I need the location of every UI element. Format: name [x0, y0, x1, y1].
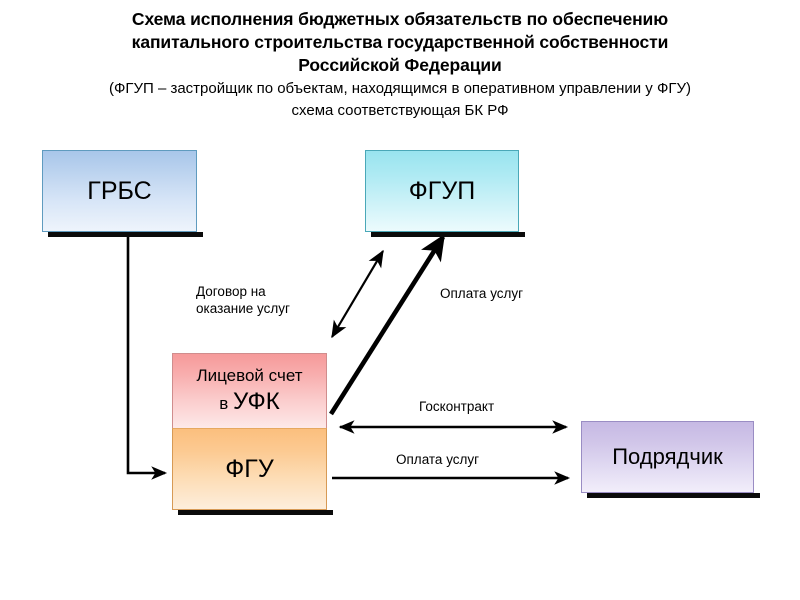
contractor-box-shadow: [587, 493, 760, 498]
edge-label-service-contract: Договор на оказание услуг: [196, 283, 290, 317]
grbs-box-shadow: [48, 232, 203, 237]
node-fgup[interactable]: ФГУП: [365, 150, 519, 232]
node-fgu-label: ФГУ: [225, 455, 273, 484]
node-grbs[interactable]: ГРБС: [42, 150, 197, 232]
diagram-canvas: Схема исполнения бюджетных обязательств …: [0, 0, 800, 600]
ls-prefix: в: [219, 394, 233, 413]
fgup-box-shadow: [371, 232, 525, 237]
connector-layer: [0, 0, 800, 600]
node-grbs-label: ГРБС: [87, 177, 151, 206]
edge-label-payment-top: Оплата услуг: [440, 285, 523, 302]
node-fgup-label: ФГУП: [409, 177, 475, 206]
edge-label-payment-bottom: Оплата услуг: [396, 451, 479, 468]
node-contractor[interactable]: Подрядчик: [581, 421, 754, 493]
node-personal-account-label-line2: в УФК: [219, 388, 279, 416]
node-fgu[interactable]: ФГУ: [172, 428, 327, 510]
node-personal-account[interactable]: Лицевой счет в УФК: [172, 353, 327, 428]
connector-grbs-to-fgu: [128, 233, 165, 473]
node-contractor-label: Подрядчик: [612, 444, 723, 470]
edge-label-goskontrakt: Госконтракт: [419, 398, 494, 415]
fgu-box-shadow: [178, 510, 333, 515]
ls-ufk: УФК: [233, 388, 280, 415]
connector-ls-fgup-contract: [332, 251, 383, 337]
connector-fgu-to-fgup-payment: [331, 237, 443, 414]
node-personal-account-label-line1: Лицевой счет: [196, 366, 302, 386]
